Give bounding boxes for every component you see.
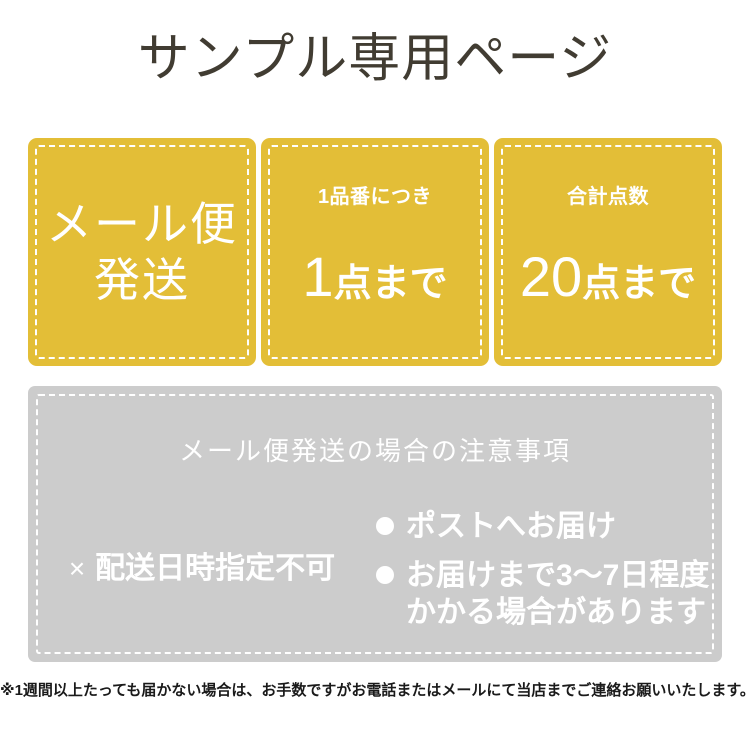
card-shipping-method-line-1: メール便 bbox=[28, 196, 256, 252]
card-per-item-limit-unit: 点まで bbox=[334, 263, 448, 305]
card-per-item-limit: 1品番につき 1点まで bbox=[261, 138, 489, 366]
card-total-limit-value: 20点まで bbox=[494, 249, 722, 320]
feature-cards-row: メール便 発送 1品番につき 1点まで 合計点数 20点まで bbox=[28, 138, 722, 366]
card-shipping-method: メール便 発送 bbox=[28, 138, 256, 366]
notice-restriction-label: 配送日時指定不可 bbox=[95, 552, 335, 585]
notice-bullet-2-text: お届けまで3〜7日程度 かかる場合があります bbox=[406, 557, 709, 631]
cross-mark-icon: × bbox=[69, 553, 85, 584]
page-title: サンプル専用ページ bbox=[0, 28, 750, 90]
card-shipping-method-line-2: 発送 bbox=[28, 252, 256, 308]
footer-note: ※1週間以上たっても届かない場合は、お手数ですがお電話またはメールにて当店までご… bbox=[0, 680, 750, 702]
notice-bullet-2-line-1: お届けまで3〜7日程度 bbox=[406, 557, 709, 594]
notice-bullet-list: ポストへお届け お届けまで3〜7日程度 かかる場合があります bbox=[376, 504, 722, 643]
sample-page-banner: サンプル専用ページ メール便 発送 1品番につき 1点まで 合計点数 bbox=[0, 0, 750, 750]
bullet-dot-icon bbox=[376, 517, 394, 535]
notice-body: ×配送日時指定不可 ポストへお届け お届けまで3〜7日程度 かかる場合があります bbox=[28, 504, 722, 644]
card-per-item-limit-caption: 1品番につき bbox=[261, 185, 489, 209]
notice-bullet-1-line-1: ポストへお届け bbox=[406, 508, 616, 545]
card-total-limit-unit: 点まで bbox=[582, 263, 696, 305]
card-total-limit-content: 合計点数 20点まで bbox=[494, 185, 722, 320]
notice-restriction: ×配送日時指定不可 bbox=[28, 504, 376, 634]
card-total-limit-caption: 合計点数 bbox=[494, 185, 722, 209]
card-total-limit-number: 20 bbox=[520, 245, 582, 308]
card-per-item-limit-value: 1点まで bbox=[261, 249, 489, 320]
card-per-item-limit-number: 1 bbox=[302, 245, 333, 308]
notice-restriction-text: ×配送日時指定不可 bbox=[69, 550, 335, 588]
list-item: お届けまで3〜7日程度 かかる場合があります bbox=[376, 557, 722, 631]
list-item: ポストへお届け bbox=[376, 508, 722, 545]
card-shipping-method-content: メール便 発送 bbox=[28, 196, 256, 308]
notice-panel: メール便発送の場合の注意事項 ×配送日時指定不可 ポストへお届け お届けまで3〜… bbox=[28, 386, 722, 662]
card-total-limit: 合計点数 20点まで bbox=[494, 138, 722, 366]
card-per-item-limit-content: 1品番につき 1点まで bbox=[261, 185, 489, 320]
bullet-dot-icon bbox=[376, 566, 394, 584]
notice-heading: メール便発送の場合の注意事項 bbox=[28, 434, 722, 468]
notice-bullet-2-line-2: かかる場合があります bbox=[406, 594, 709, 631]
